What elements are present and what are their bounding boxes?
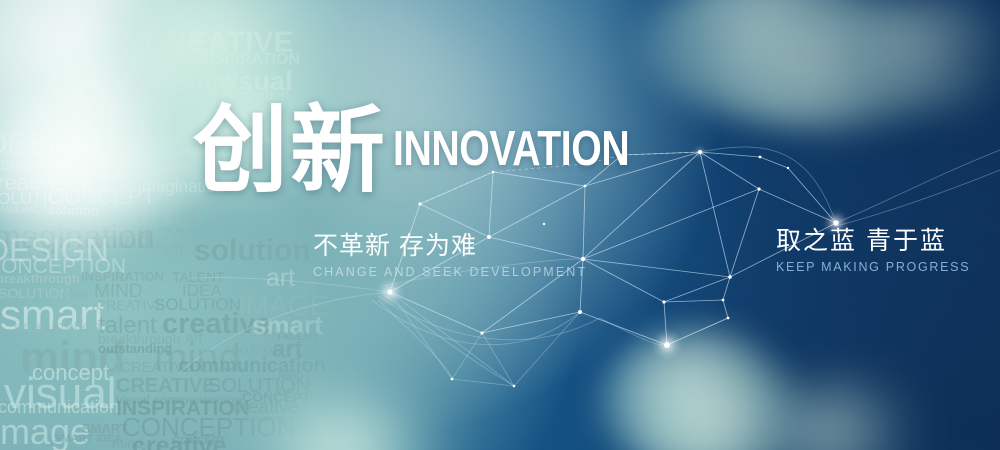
mesh-node: [418, 202, 421, 205]
mesh-node: [759, 156, 762, 159]
subtitle-right-english: KEEP MAKING PROGRESS: [776, 261, 970, 275]
headline: 创新 INNOVATION: [193, 108, 688, 195]
mesh-node: [387, 289, 392, 294]
mesh-node: [513, 385, 516, 388]
mesh-node: [543, 223, 545, 225]
innovation-banner: CREATIVEconceptINSPIRATIONartdesignvisua…: [0, 0, 1000, 450]
mesh-node: [480, 331, 483, 334]
subtitle-right-chinese: 取之蓝 青于蓝: [776, 228, 970, 256]
headline-chinese: 创新: [193, 108, 387, 195]
mesh-node: [664, 342, 670, 348]
subtitle-right: 取之蓝 青于蓝 KEEP MAKING PROGRESS: [776, 228, 970, 274]
mesh-node: [662, 300, 665, 303]
mesh-node: [578, 310, 582, 314]
mesh-node: [787, 167, 789, 169]
headline-english: INNOVATION: [393, 125, 629, 174]
mesh-node: [727, 317, 730, 320]
mesh-node: [722, 299, 725, 302]
subtitle-left-english: CHANGE AND SEEK DEVELOPMENT: [313, 266, 587, 280]
network-mesh-graphic: [0, 0, 1000, 450]
mesh-node: [833, 220, 839, 226]
subtitle-left-chinese: 不革新 存为难: [313, 233, 587, 261]
mesh-node: [757, 187, 760, 190]
mesh-node: [451, 378, 454, 381]
mesh-node: [728, 275, 732, 279]
subtitle-left: 不革新 存为难 CHANGE AND SEEK DEVELOPMENT: [313, 233, 587, 279]
mesh-node: [698, 150, 702, 154]
